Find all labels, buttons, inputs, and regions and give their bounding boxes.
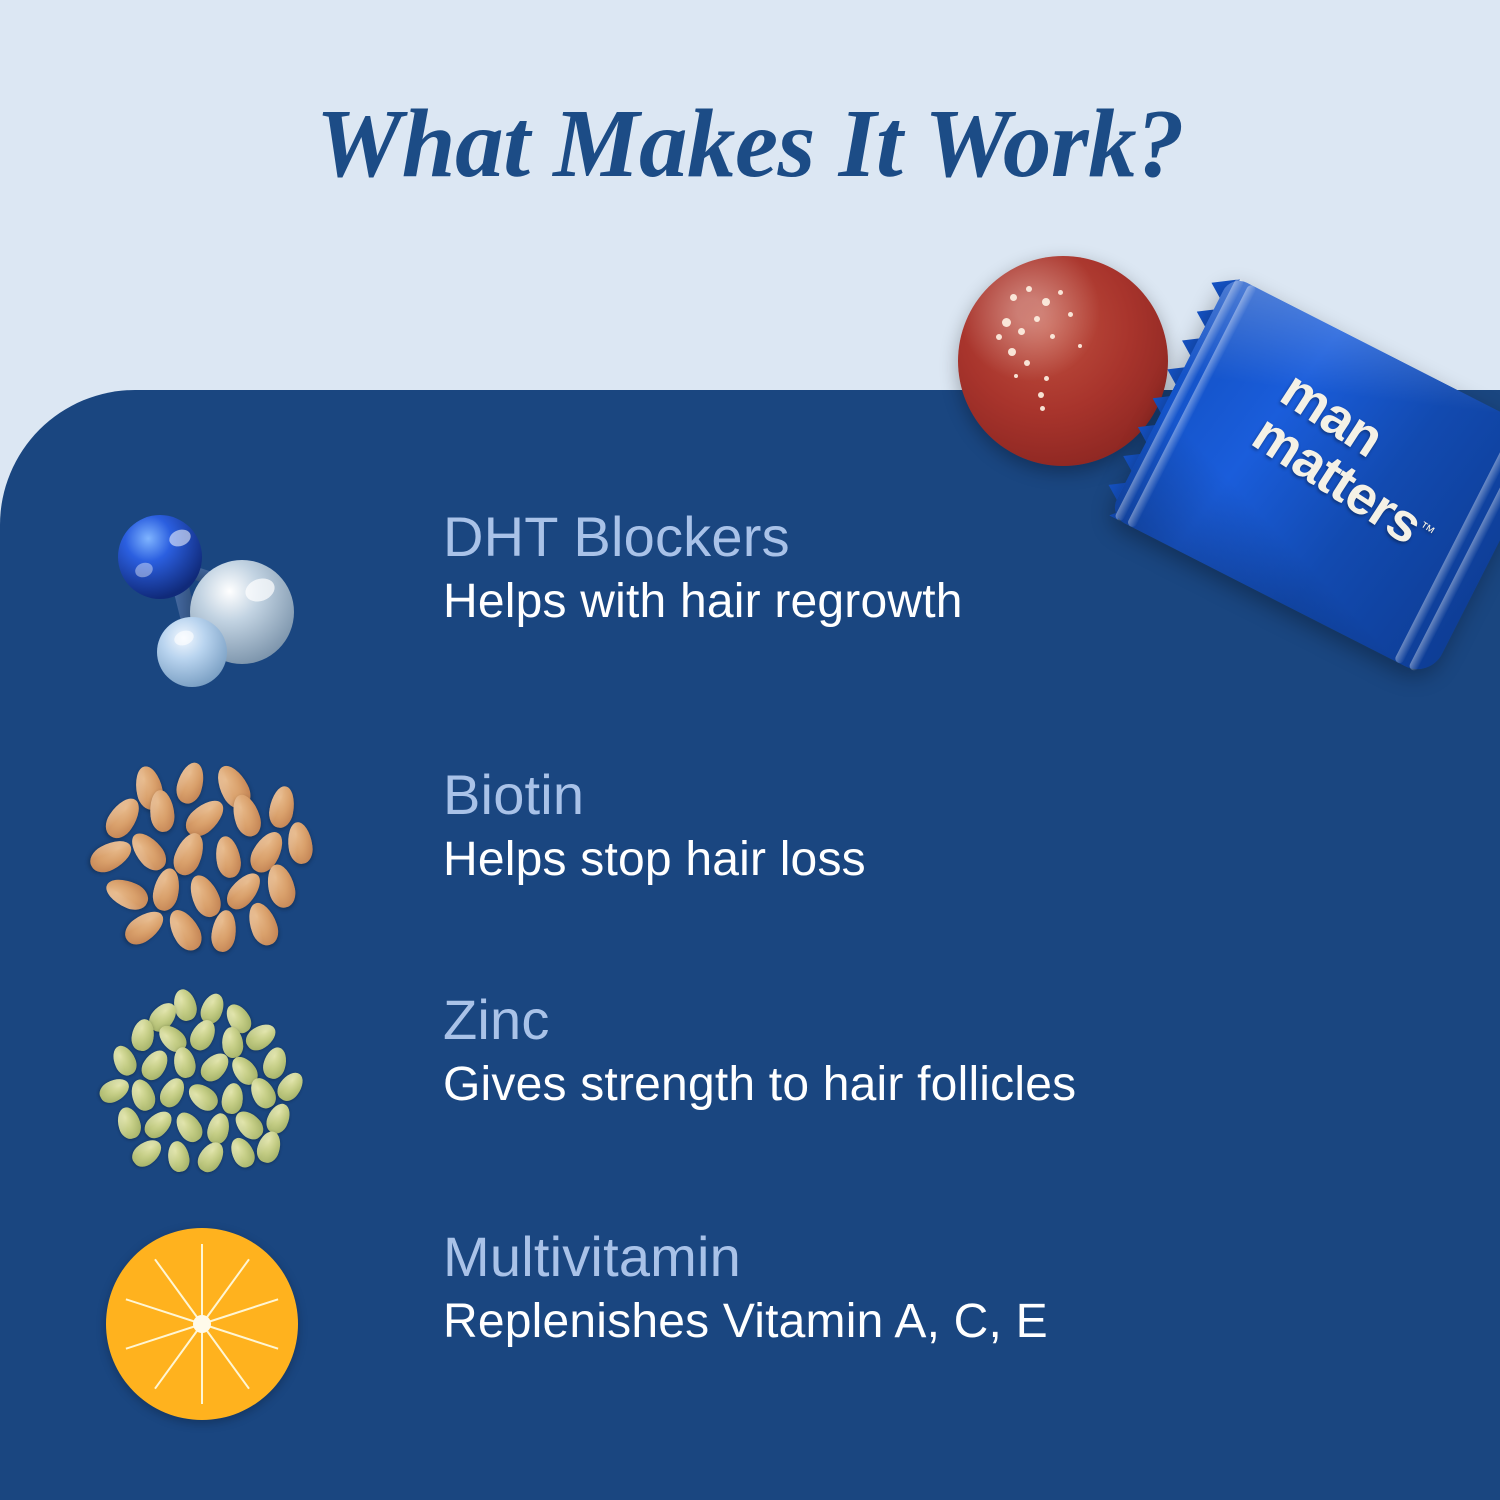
pumpkin-seeds-icon: [92, 985, 332, 1185]
ingredient-list: DHT Blockers Helps with hair regrowth: [0, 390, 1500, 1500]
list-item: Biotin Helps stop hair loss: [0, 760, 1500, 970]
infographic-canvas: What Makes It Work?: [0, 0, 1500, 1500]
molecule-svg: [92, 502, 332, 702]
ingredient-text: Zinc Gives strength to hair follicles: [443, 991, 1443, 1111]
ingredient-description: Gives strength to hair follicles: [443, 1060, 1443, 1110]
list-item: Multivitamin Replenishes Vitamin A, C, E: [0, 1222, 1500, 1432]
orange-core: [193, 1315, 211, 1333]
page-title: What Makes It Work?: [0, 88, 1500, 199]
ingredient-text: DHT Blockers Helps with hair regrowth: [443, 508, 1443, 628]
molecule-icon: [92, 502, 332, 702]
ingredient-label: Biotin: [443, 766, 1443, 823]
almond-cluster: [92, 760, 332, 960]
ingredient-label: Multivitamin: [443, 1228, 1443, 1285]
pumpkin-seed-pile: [92, 985, 332, 1185]
ingredient-description: Helps stop hair loss: [443, 835, 1443, 885]
ingredient-text: Biotin Helps stop hair loss: [443, 766, 1443, 886]
ingredient-description: Replenishes Vitamin A, C, E: [443, 1297, 1443, 1347]
almonds-icon: [92, 760, 332, 960]
orange-slice-icon: [92, 1222, 332, 1422]
orange-cross-section: [106, 1228, 298, 1420]
ingredient-text: Multivitamin Replenishes Vitamin A, C, E: [443, 1228, 1443, 1348]
list-item: DHT Blockers Helps with hair regrowth: [0, 502, 1500, 712]
ingredient-label: DHT Blockers: [443, 508, 1443, 565]
ingredient-description: Helps with hair regrowth: [443, 577, 1443, 627]
ingredient-label: Zinc: [443, 991, 1443, 1048]
list-item: Zinc Gives strength to hair follicles: [0, 985, 1500, 1195]
